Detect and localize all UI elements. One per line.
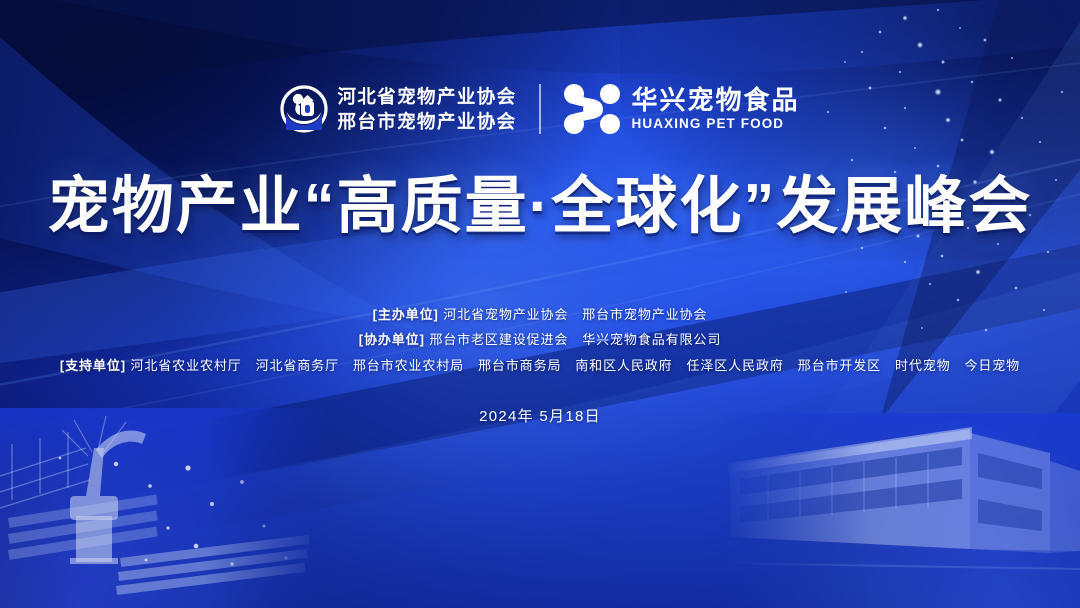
association-names: 河北省宠物产业协会 邢台市宠物产业协会 bbox=[337, 86, 516, 131]
event-date: 2024年 5月18日 bbox=[479, 405, 601, 426]
huaxing-logo: 华兴宠物食品 HUAXING PET FOOD bbox=[563, 83, 800, 135]
vertical-divider-icon bbox=[539, 84, 541, 134]
organizer-names: 河北省宠物产业协会 邢台市宠物产业协会 bbox=[443, 307, 707, 322]
banner-stage: 河北省宠物产业协会 邢台市宠物产业协会 华 bbox=[0, 0, 1080, 608]
organizer-row: [协办单位] 邢台市老区建设促进会 华兴宠物食品有限公司 bbox=[359, 332, 721, 348]
huaxing-name-cn: 华兴宠物食品 bbox=[632, 86, 800, 115]
huaxing-molecule-mark-icon bbox=[563, 83, 621, 135]
organizer-list: [主办单位] 河北省宠物产业协会 邢台市宠物产业协会 [协办单位] 邢台市老区建… bbox=[60, 307, 1020, 374]
organizer-tag: [协办单位] bbox=[359, 332, 425, 347]
logo-bar: 河北省宠物产业协会 邢台市宠物产业协会 华 bbox=[280, 78, 799, 140]
organizer-tag: [主办单位] bbox=[373, 307, 439, 322]
association-logo: 河北省宠物产业协会 邢台市宠物产业协会 bbox=[280, 84, 516, 134]
association-name-line-1: 河北省宠物产业协会 bbox=[337, 86, 516, 107]
association-name-line-2: 邢台市宠物产业协会 bbox=[337, 111, 516, 132]
organizer-names: 邢台市老区建设促进会 华兴宠物食品有限公司 bbox=[429, 332, 721, 347]
huaxing-name-en: HUAXING PET FOOD bbox=[632, 117, 800, 132]
pet-association-emblem-icon bbox=[280, 84, 328, 134]
banner-content: 河北省宠物产业协会 邢台市宠物产业协会 华 bbox=[0, 0, 1080, 608]
huaxing-names: 华兴宠物食品 HUAXING PET FOOD bbox=[632, 86, 800, 131]
organizer-names: 河北省农业农村厅 河北省商务厅 邢台市农业农村局 邢台市商务局 南和区人民政府 … bbox=[130, 358, 1020, 373]
organizer-tag: [支持单位] bbox=[60, 358, 126, 373]
organizer-row: [主办单位] 河北省宠物产业协会 邢台市宠物产业协会 bbox=[373, 307, 708, 323]
organizer-row: [支持单位] 河北省农业农村厅 河北省商务厅 邢台市农业农村局 邢台市商务局 南… bbox=[60, 358, 1020, 374]
main-title: 宠物产业“高质量·全球化”发展峰会 bbox=[48, 174, 1033, 239]
